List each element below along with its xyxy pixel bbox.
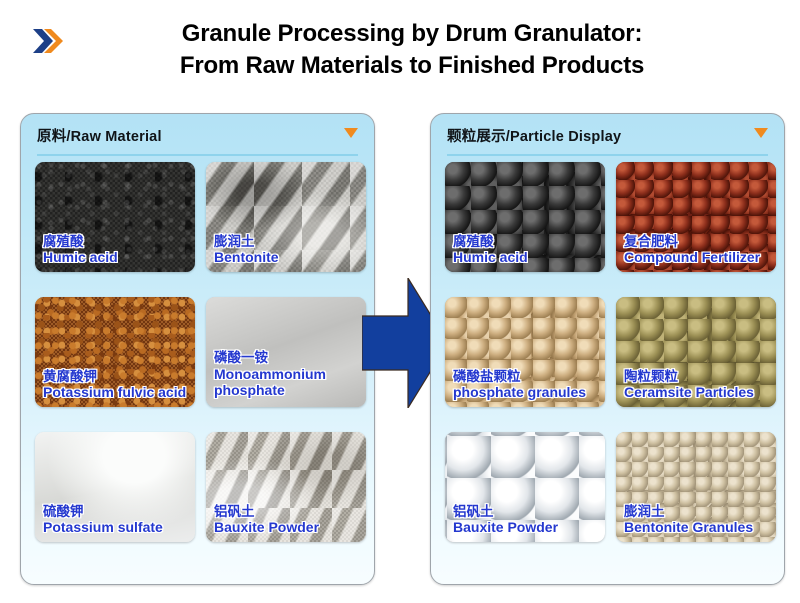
card-humic-acid[interactable]: 腐殖酸 Humic acid bbox=[35, 162, 195, 272]
card-humic-acid-granules[interactable]: 腐殖酸 Humic acid bbox=[445, 162, 605, 272]
card-bentonite[interactable]: 膨润土 Bentonite bbox=[206, 162, 366, 272]
card-label-cn: 腐殖酸 bbox=[43, 234, 191, 250]
card-label: 黄腐酸钾 Potassium fulvic acid bbox=[43, 369, 191, 401]
card-label: 铝矾土 Bauxite Powder bbox=[214, 504, 362, 536]
card-label: 腐殖酸 Humic acid bbox=[43, 234, 191, 266]
card-label-cn: 硫酸钾 bbox=[43, 504, 191, 520]
panel-raw-material-header: 原料/Raw Material bbox=[21, 114, 374, 158]
header-divider bbox=[447, 154, 768, 156]
card-label-en: phosphate granules bbox=[453, 384, 601, 401]
card-label: 硫酸钾 Potassium sulfate bbox=[43, 504, 191, 536]
header-divider bbox=[37, 154, 358, 156]
card-label: 复合肥料 Compound Fertilizer bbox=[624, 234, 772, 266]
raw-material-card-grid: 腐殖酸 Humic acid 膨润土 Bentonite 黄腐酸钾 Potass… bbox=[21, 158, 374, 542]
page-root: Granule Processing by Drum Granulator: F… bbox=[0, 0, 800, 603]
panel-raw-material-title: 原料/Raw Material bbox=[37, 125, 358, 146]
card-label: 膨润土 Bentonite bbox=[214, 234, 362, 266]
caret-down-icon[interactable] bbox=[344, 128, 358, 138]
card-bauxite-balls[interactable]: 铝矾土 Bauxite Powder bbox=[445, 432, 605, 542]
card-label-cn: 铝矾土 bbox=[214, 504, 362, 520]
card-label: 磷酸一铵 Monoammonium phosphate bbox=[214, 350, 362, 399]
card-label: 磷酸盐颗粒 phosphate granules bbox=[453, 369, 601, 401]
card-label-cn: 磷酸一铵 bbox=[214, 350, 362, 366]
card-label-en: Ceramsite Particles bbox=[624, 384, 772, 401]
card-potassium-sulfate[interactable]: 硫酸钾 Potassium sulfate bbox=[35, 432, 195, 542]
panel-raw-material: 原料/Raw Material 腐殖酸 Humic acid 膨润土 Bento… bbox=[20, 113, 375, 585]
card-label-en: Humic acid bbox=[453, 249, 601, 266]
page-title-line-2: From Raw Materials to Finished Products bbox=[180, 50, 644, 82]
page-title-line-1: Granule Processing by Drum Granulator: bbox=[180, 18, 644, 50]
card-compound-fertilizer[interactable]: 复合肥料 Compound Fertilizer bbox=[616, 162, 776, 272]
card-label-cn: 腐殖酸 bbox=[453, 234, 601, 250]
card-label: 腐殖酸 Humic acid bbox=[453, 234, 601, 266]
card-label: 膨润土 Bentonite Granules bbox=[624, 504, 772, 536]
card-label-cn: 陶粒颗粒 bbox=[624, 369, 772, 385]
card-phosphate-granules[interactable]: 磷酸盐颗粒 phosphate granules bbox=[445, 297, 605, 407]
card-ceramsite-particles[interactable]: 陶粒颗粒 Ceramsite Particles bbox=[616, 297, 776, 407]
page-title-text: Granule Processing by Drum Granulator: F… bbox=[156, 18, 644, 81]
card-bentonite-granules[interactable]: 膨润土 Bentonite Granules bbox=[616, 432, 776, 542]
card-potassium-fulvic-acid[interactable]: 黄腐酸钾 Potassium fulvic acid bbox=[35, 297, 195, 407]
caret-down-icon[interactable] bbox=[754, 128, 768, 138]
card-label-cn: 磷酸盐颗粒 bbox=[453, 369, 601, 385]
card-label-cn: 膨润土 bbox=[214, 234, 362, 250]
card-bauxite-powder[interactable]: 铝矾土 Bauxite Powder bbox=[206, 432, 366, 542]
card-label: 陶粒颗粒 Ceramsite Particles bbox=[624, 369, 772, 401]
card-label-cn: 黄腐酸钾 bbox=[43, 369, 191, 385]
card-label: 铝矾土 Bauxite Powder bbox=[453, 504, 601, 536]
panel-particle-display: 颗粒展示/Particle Display 腐殖酸 Humic acid 复合肥… bbox=[430, 113, 785, 585]
panel-particle-display-title: 颗粒展示/Particle Display bbox=[447, 125, 768, 146]
card-label-en: Compound Fertilizer bbox=[624, 249, 772, 266]
card-label-cn: 复合肥料 bbox=[624, 234, 772, 250]
card-label-cn: 铝矾土 bbox=[453, 504, 601, 520]
particle-display-card-grid: 腐殖酸 Humic acid 复合肥料 Compound Fertilizer … bbox=[431, 158, 784, 542]
card-label-cn: 膨润土 bbox=[624, 504, 772, 520]
card-monoammonium-phosphate[interactable]: 磷酸一铵 Monoammonium phosphate bbox=[206, 297, 366, 407]
card-label-en: Potassium sulfate bbox=[43, 519, 191, 536]
card-label-en: Bentonite Granules bbox=[624, 519, 772, 536]
card-label-en: Bauxite Powder bbox=[453, 519, 601, 536]
panel-particle-display-header: 颗粒展示/Particle Display bbox=[431, 114, 784, 158]
card-label-en: Humic acid bbox=[43, 249, 191, 266]
card-label-en: Potassium fulvic acid bbox=[43, 384, 191, 401]
card-label-en: Bentonite bbox=[214, 249, 362, 266]
page-title: Granule Processing by Drum Granulator: F… bbox=[0, 18, 800, 81]
double-chevron-right-icon bbox=[33, 28, 63, 54]
card-label-en: Monoammonium phosphate bbox=[214, 366, 362, 399]
card-label-en: Bauxite Powder bbox=[214, 519, 362, 536]
